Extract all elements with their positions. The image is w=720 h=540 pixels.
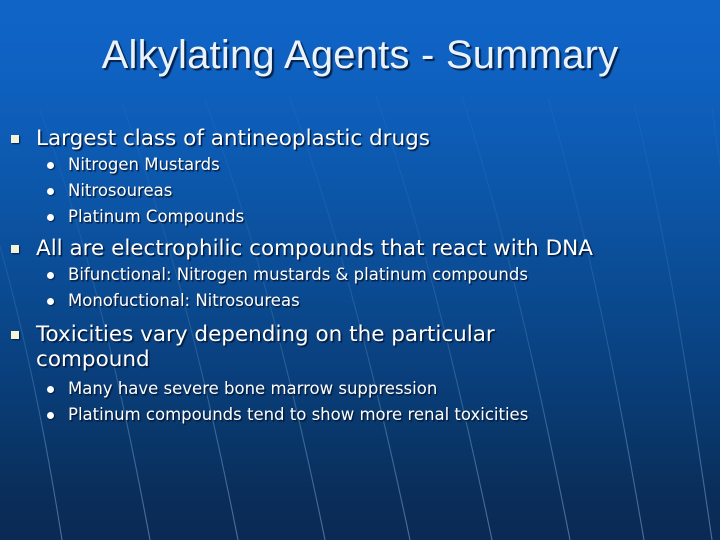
bullet-level2-text: Many have severe bone marrow suppression: [68, 379, 437, 398]
presentation-slide: Alkylating Agents - Summary Largest clas…: [0, 0, 720, 540]
bullet-level2-text: Nitrosoureas: [68, 181, 172, 200]
square-bullet-icon: [11, 331, 19, 339]
slide-title: Alkylating Agents - Summary: [0, 34, 720, 76]
bullet-group: Largest class of antineoplastic drugs Ni…: [0, 126, 720, 228]
slide-body: Largest class of antineoplastic drugs Ni…: [0, 126, 720, 426]
bullet-level2: Platinum Compounds: [0, 206, 720, 228]
bullet-level2-text: Platinum compounds tend to show more ren…: [68, 405, 528, 424]
dot-bullet-icon: [47, 214, 54, 221]
sub-bullet-list: Bifunctional: Nitrogen mustards & platin…: [0, 264, 720, 312]
dot-bullet-icon: [47, 162, 54, 169]
bullet-level2-text: Platinum Compounds: [68, 207, 244, 226]
bullet-level1-text: Toxicities vary depending on the particu…: [36, 322, 495, 372]
dot-bullet-icon: [47, 412, 54, 419]
dot-bullet-icon: [47, 188, 54, 195]
spacer: [0, 228, 720, 236]
bullet-level1: All are electrophilic compounds that rea…: [0, 236, 720, 261]
square-bullet-icon: [11, 135, 19, 143]
bullet-level2-text: Bifunctional: Nitrogen mustards & platin…: [68, 265, 528, 284]
bullet-level2-text: Nitrogen Mustards: [68, 155, 220, 174]
spacer: [0, 312, 720, 322]
sub-bullet-list: Nitrogen Mustards Nitrosoureas Platinum …: [0, 154, 720, 228]
bullet-level1: Toxicities vary depending on the particu…: [0, 322, 610, 372]
bullet-level2: Nitrogen Mustards: [0, 154, 720, 176]
dot-bullet-icon: [47, 386, 54, 393]
sub-bullet-list: Many have severe bone marrow suppression…: [0, 378, 720, 426]
bullet-level2-text: Monofuctional: Nitrosoureas: [68, 291, 300, 310]
bullet-level2: Monofuctional: Nitrosoureas: [0, 290, 720, 312]
bullet-level1: Largest class of antineoplastic drugs: [0, 126, 720, 151]
bullet-level2: Bifunctional: Nitrogen mustards & platin…: [0, 264, 720, 286]
dot-bullet-icon: [47, 298, 54, 305]
slide-title-text: Alkylating Agents - Summary: [102, 34, 619, 76]
bullet-group: All are electrophilic compounds that rea…: [0, 236, 720, 312]
bullet-group: Toxicities vary depending on the particu…: [0, 322, 720, 426]
bullet-level2: Platinum compounds tend to show more ren…: [0, 404, 720, 426]
bullet-level2: Many have severe bone marrow suppression: [0, 378, 720, 400]
bullet-level1-text: Largest class of antineoplastic drugs: [36, 126, 430, 151]
square-bullet-icon: [11, 245, 19, 253]
bullet-level2: Nitrosoureas: [0, 180, 720, 202]
dot-bullet-icon: [47, 272, 54, 279]
bullet-level1-text: All are electrophilic compounds that rea…: [36, 236, 593, 261]
